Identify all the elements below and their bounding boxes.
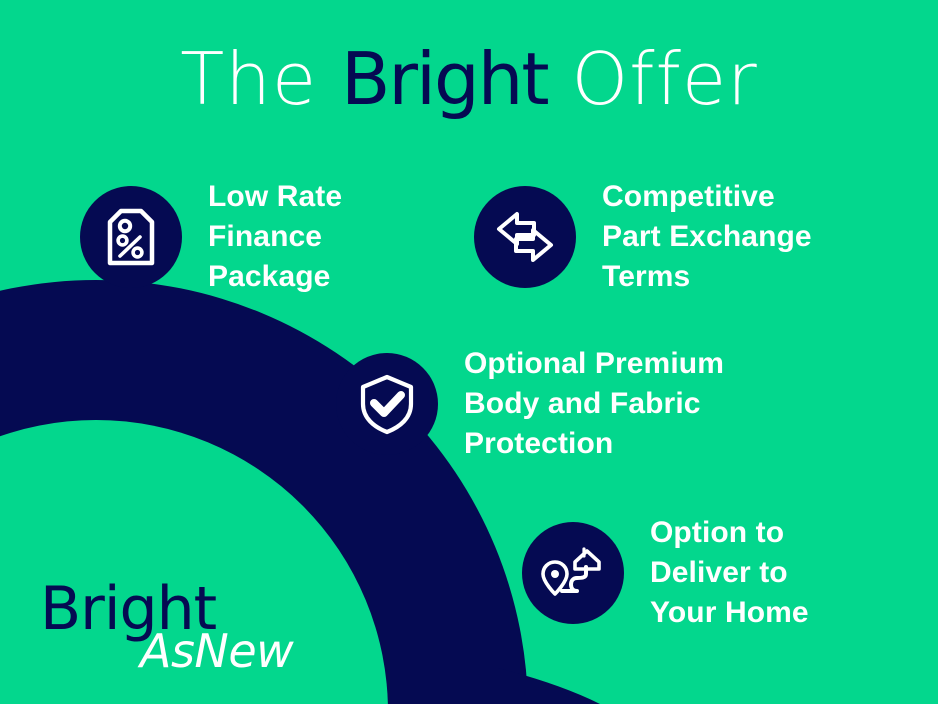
- title-suffix: Offer: [548, 37, 758, 121]
- feature-label: Option to Deliver to Your Home: [650, 513, 809, 633]
- feature-label: Optional Premium Body and Fabric Protect…: [464, 344, 724, 464]
- feature-item-body-fabric-protection: Optional Premium Body and Fabric Protect…: [336, 344, 724, 464]
- price-tag-percent-icon: [104, 207, 158, 267]
- title-brand: Bright: [341, 37, 548, 121]
- home-delivery-route-icon: [541, 544, 605, 602]
- feature-icon-badge: [474, 186, 576, 288]
- offer-graphic: The Bright Offer Low Rate Finance Packag…: [0, 0, 938, 704]
- feature-label: Low Rate Finance Package: [208, 177, 342, 297]
- exchange-arrows-icon: [494, 206, 556, 268]
- brand-logo-secondary: AsNew: [140, 626, 293, 676]
- brand-logo: Bright AsNew: [40, 578, 300, 688]
- title-prefix: The: [180, 37, 341, 121]
- navy-wedge-accent: [498, 668, 600, 704]
- feature-icon-badge: [522, 522, 624, 624]
- feature-item-low-rate-finance: Low Rate Finance Package: [80, 177, 342, 297]
- feature-item-home-delivery: Option to Deliver to Your Home: [522, 513, 809, 633]
- feature-icon-badge: [80, 186, 182, 288]
- feature-item-part-exchange: Competitive Part Exchange Terms: [474, 177, 812, 297]
- feature-label: Competitive Part Exchange Terms: [602, 177, 812, 297]
- feature-icon-badge: [336, 353, 438, 455]
- shield-check-icon: [359, 373, 415, 435]
- page-title: The Bright Offer: [0, 36, 938, 123]
